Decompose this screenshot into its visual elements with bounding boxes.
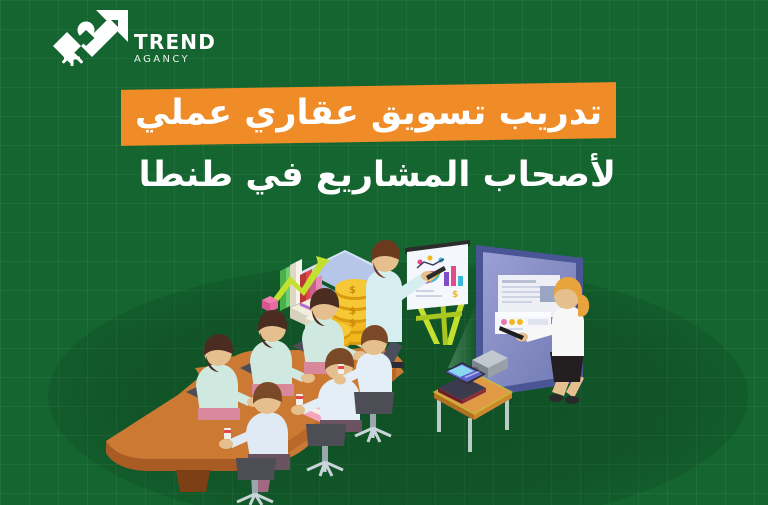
office-chair-base-2 [236, 458, 276, 505]
poster-canvas: TREND AGANCY تدريب تسويق عقاري عملي لأصح… [0, 0, 768, 505]
office-chair-base-1 [306, 424, 346, 476]
isometric-scene: $ $ [0, 0, 768, 505]
svg-text:$: $ [349, 306, 356, 317]
laptop-desk [434, 350, 512, 452]
svg-text:$: $ [452, 290, 458, 300]
svg-text:$: $ [349, 318, 356, 329]
svg-text:$: $ [349, 285, 356, 296]
flipchart-easel: $ [405, 240, 470, 345]
